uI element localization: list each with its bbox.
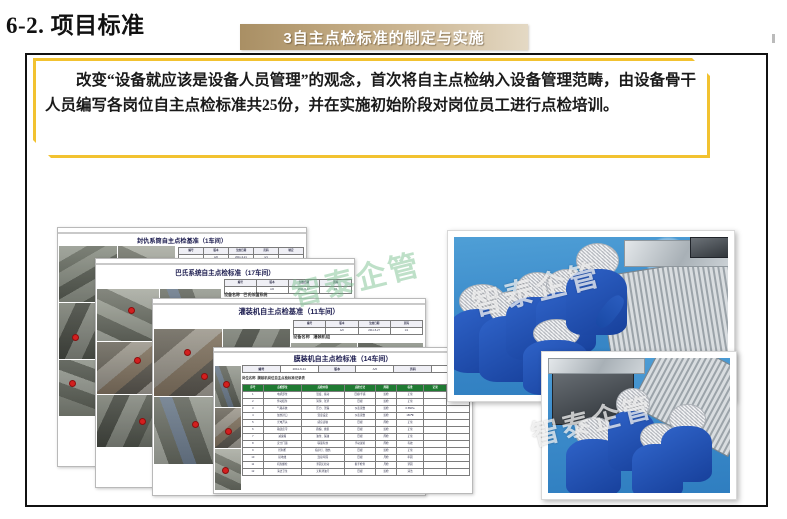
document-title: 膜装机自主点检标准（14车间） <box>214 354 472 364</box>
table-row: 6输送皮带跑偏、磨损目视班检正常 <box>243 427 470 434</box>
table-row: 9控制柜指示灯、散热目视班检正常 <box>243 448 470 455</box>
table-row: 7减速箱油位、漏油目视周检正常 <box>243 434 470 441</box>
machine-housing <box>690 237 728 258</box>
uniform-torso <box>661 426 712 482</box>
document-title: 巴氏系统自主点检标准（17车间） <box>96 267 354 277</box>
table-row: 编号 版本 生效日期 页码 <box>225 280 352 287</box>
photo-image <box>548 358 730 493</box>
corner-tick-mark <box>772 34 775 43</box>
table-row: 11机架螺栓紧固无松动扳手检查月检紧固 <box>243 462 470 469</box>
document-note: 岗位名称 膜装机岗位自主点检标准记录表 <box>242 375 470 380</box>
equipment-photo <box>215 449 241 490</box>
machine-frame <box>548 358 645 374</box>
document-note: 设备名称 灌装机组 <box>293 334 423 340</box>
callout-text-wrap: 改变“设备就应该是设备人员管理”的观念，首次将自主点检纳入设备管理范畴，由设备骨… <box>33 58 710 158</box>
equipment-photo <box>215 366 241 407</box>
equipment-photo <box>215 408 241 449</box>
worker-figure <box>566 243 626 335</box>
table-row: 编号 2011-6-11 版本 A/0 页码 1/1 <box>243 366 470 373</box>
document-title: 灌装机自主点检基准（11车间） <box>153 307 425 317</box>
table-row: 5光电开关感应灵敏目视周检正常 <box>243 420 470 427</box>
equipment-photo <box>97 342 159 394</box>
table-row: 1电机部位温度、振动目视/手感班检正常 <box>243 392 470 399</box>
equipment-photo <box>97 395 159 447</box>
table-row: 编号 版本 生效日期 页码 制定 <box>179 248 304 255</box>
section-banner: 3自主点检标准的制定与实施 <box>240 24 528 50</box>
document-photo-grid <box>215 366 241 490</box>
document-thumbnail[interactable]: 膜装机自主点检标准（14车间） 编号 2011-6-11 版本 A/0 页码 1… <box>213 347 473 494</box>
table-row: 2传动链条润滑、张紧目视班检正常 <box>243 399 470 406</box>
document-header-row: 编号 2011-6-11 版本 A/0 页码 1/1 <box>242 365 470 373</box>
table-header-row: 序号 点检部位 点检内容 点检方法 周期 标准 记录 备注 <box>243 385 470 392</box>
equipment-photo <box>154 329 222 396</box>
table-row: 编号 版本 生效日期 页码 <box>294 321 423 328</box>
equipment-photo <box>97 289 159 341</box>
callout-body-text: 改变“设备就应该是设备人员管理”的观念，首次将自主点检纳入设备管理范畴，由设备骨… <box>45 68 696 118</box>
document-title: 封仇系筒自主点检基准（1车间） <box>58 236 306 245</box>
table-row: 10接地线连接牢固目视月检牢固 <box>243 455 470 462</box>
worker-figure <box>661 404 712 482</box>
inspection-standard-table: 序号 点检部位 点检内容 点检方法 周期 标准 记录 备注 1电机部位温度、振动… <box>242 384 470 476</box>
table-row: 3气路系统压力、泄漏仪表读数班检0.5MPa <box>243 406 470 413</box>
page-title: 6-2. 项目标准 <box>6 6 145 40</box>
equipment-photo <box>154 397 222 464</box>
photo-card-inspection[interactable] <box>541 351 737 500</box>
table-row: 8安全门锁联锁有效手动试验周检有效 <box>243 441 470 448</box>
table-row: 4加热封口温度设定仪表读数班检180℃ <box>243 413 470 420</box>
table-row: 12清洁卫生无料渣油污目视班检清洁 <box>243 469 470 476</box>
document-meta-table: 编号 版本 生效日期 页码 A/0 2011-5-27 1/1 <box>293 320 423 335</box>
section-banner-label: 3自主点检标准的制定与实施 <box>240 24 528 50</box>
